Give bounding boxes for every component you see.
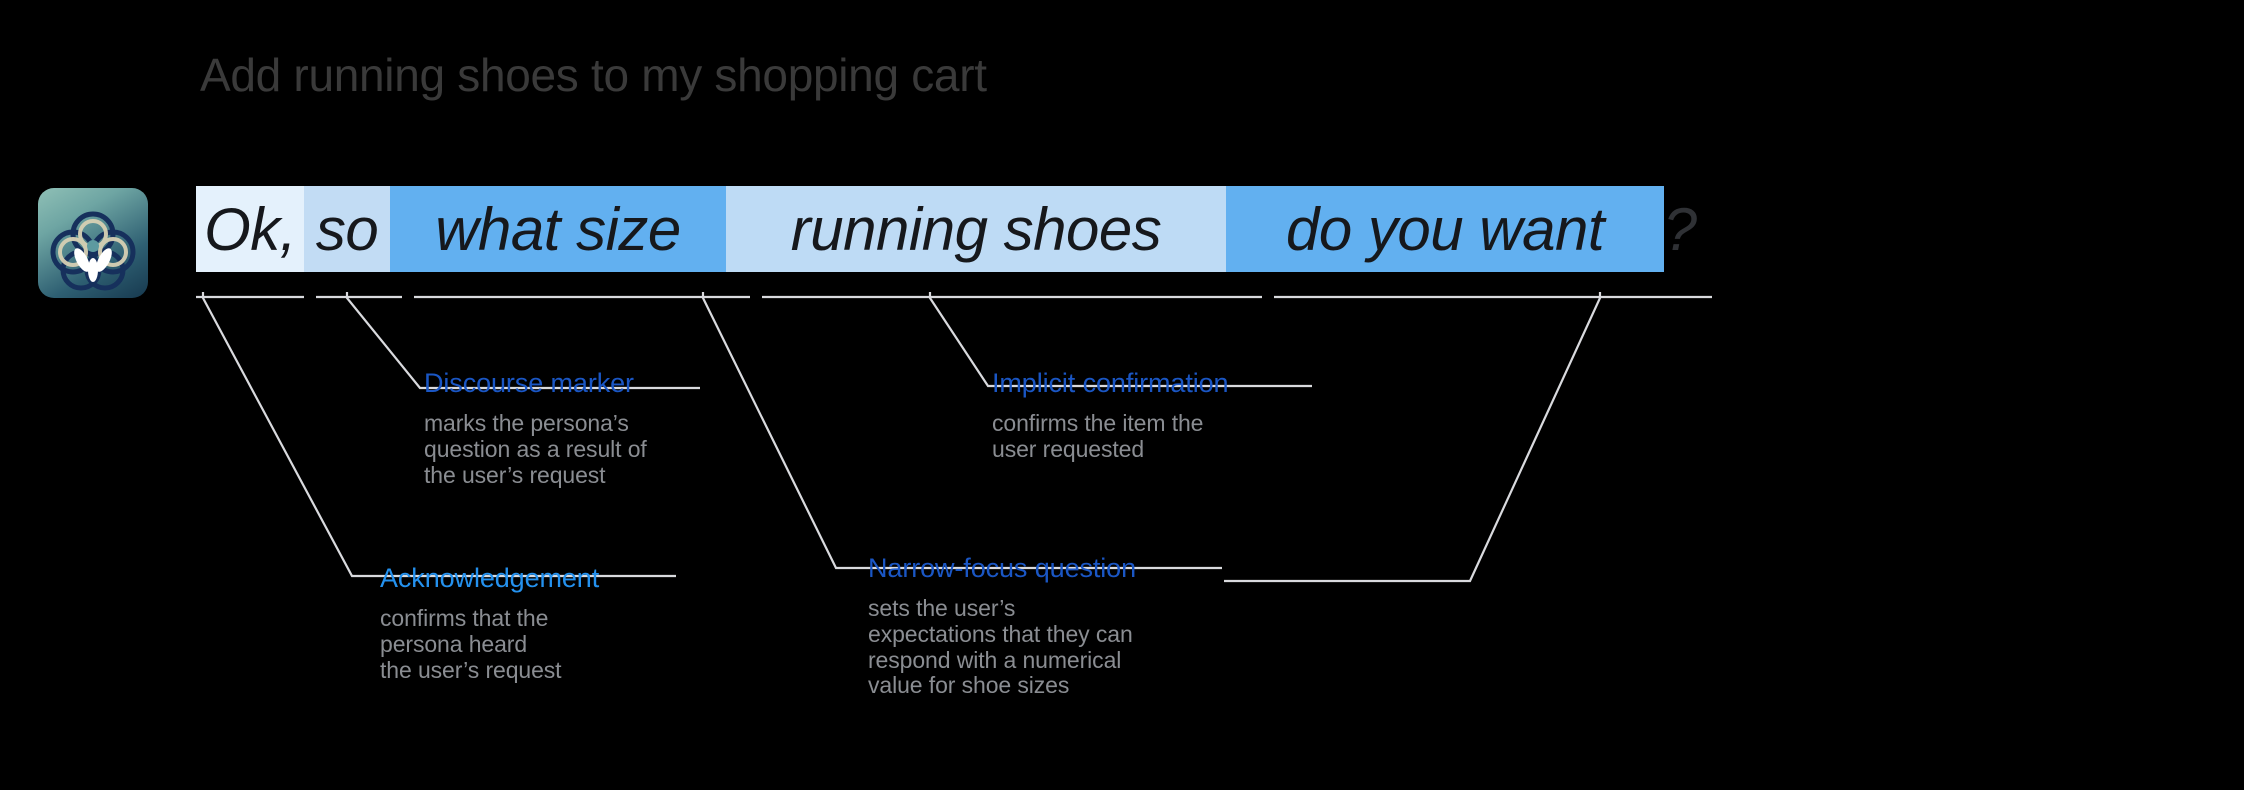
annotation-acknowledgement: Acknowledgementconfirms that the persona… xyxy=(380,563,599,683)
annotation-implicit-confirmation: Implicit confirmationconfirms the item t… xyxy=(992,368,1228,463)
annotation-description: confirms the item the user requested xyxy=(992,411,1228,463)
response-segment: running shoes xyxy=(726,186,1226,272)
leader-line xyxy=(1224,292,1600,581)
user-prompt-text: Add running shoes to my shopping cart xyxy=(200,48,987,102)
response-segment: Ok, xyxy=(196,186,304,272)
rosette-flower-emblem-icon xyxy=(38,188,148,298)
annotation-narrow-focus-question: Narrow-focus questionsets the user’s exp… xyxy=(868,553,1136,699)
annotation-title: Narrow-focus question xyxy=(868,553,1136,586)
annotation-discourse-marker: Discourse markermarks the persona’s ques… xyxy=(424,368,647,488)
response-segment: what size xyxy=(390,186,726,272)
annotation-title: Acknowledgement xyxy=(380,563,599,596)
annotation-description: marks the persona’s question as a result… xyxy=(424,411,647,488)
annotation-description: sets the user’s expectations that they c… xyxy=(868,596,1136,699)
annotation-description: confirms that the persona heard the user… xyxy=(380,606,599,683)
annotation-title: Discourse marker xyxy=(424,368,647,401)
annotation-title: Implicit confirmation xyxy=(992,368,1228,401)
persona-avatar xyxy=(38,188,148,298)
response-segment: so xyxy=(304,186,390,272)
persona-response-line: Ok,sowhat sizerunning shoesdo you want? xyxy=(196,186,1698,272)
response-segment: ? xyxy=(1664,186,1698,272)
response-segment: do you want xyxy=(1226,186,1664,272)
diagram-canvas: Add running shoes to my shopping cart xyxy=(0,0,2244,790)
